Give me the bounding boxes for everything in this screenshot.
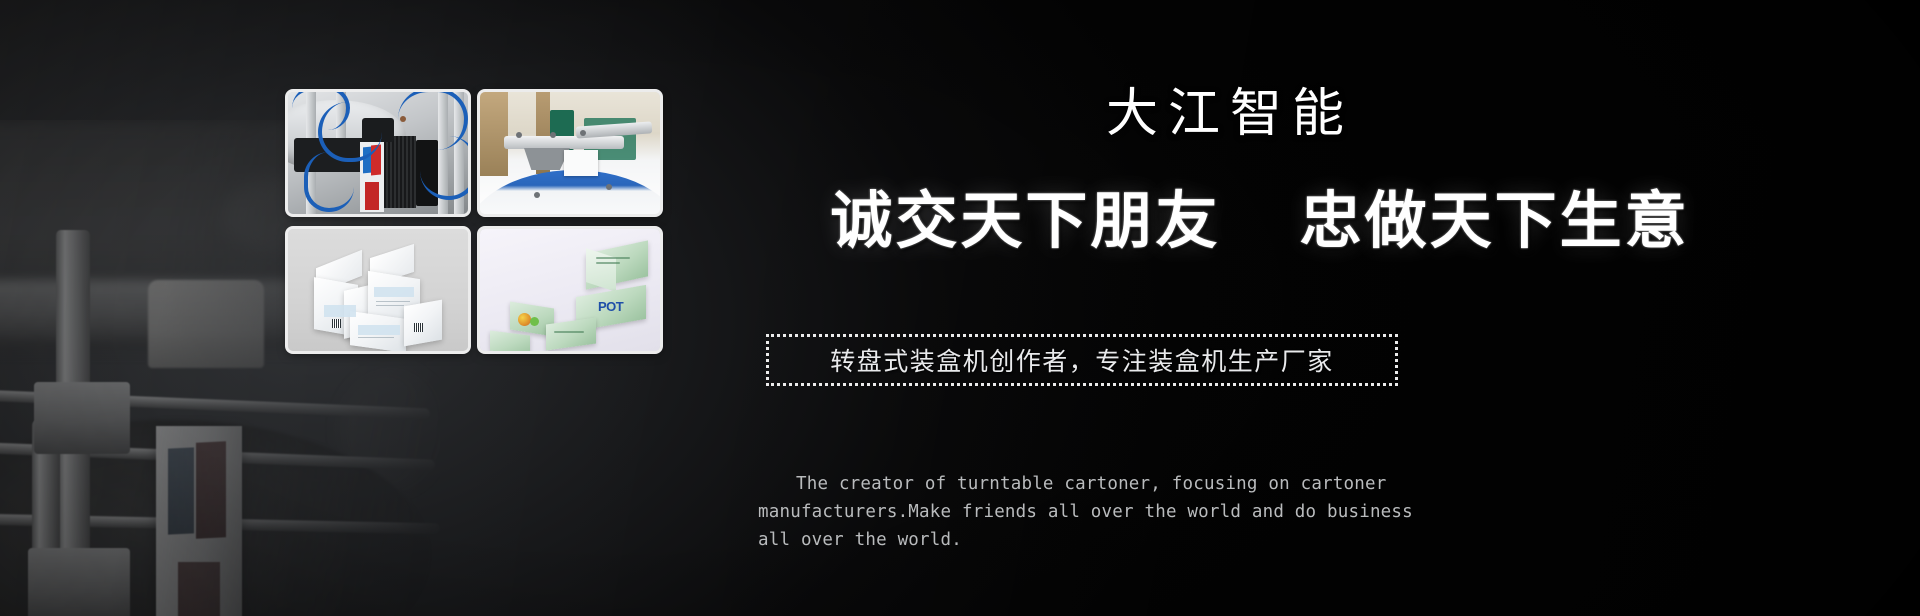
- headline-part-left: 诚交天下朋友: [830, 184, 1220, 257]
- photo-thumbnail-4[interactable]: POT: [480, 229, 660, 351]
- subtitle-dotted-box: 转盘式装盒机创作者，专注装盒机生产厂家: [766, 334, 1398, 386]
- photo-thumbnail-1[interactable]: [288, 92, 468, 214]
- photo-thumbnail-2[interactable]: [480, 92, 660, 214]
- subtitle-text: 转盘式装盒机创作者，专注装盒机生产厂家: [830, 342, 1334, 378]
- promo-banner: POT 大江智能 诚交天下朋友 忠做天下生意 转盘式装盒机创作者，专注装盒机生产…: [0, 0, 1920, 616]
- headline: 诚交天下朋友 忠做天下生意: [700, 188, 1820, 253]
- photo-grid: POT: [288, 92, 663, 351]
- english-description: The creator of turntable cartoner, focus…: [758, 470, 1418, 554]
- brand-title: 大江智能: [700, 88, 1760, 140]
- text-content: 大江智能 诚交天下朋友 忠做天下生意 转盘式装盒机创作者，专注装盒机生产厂家 T…: [700, 0, 1920, 616]
- photo-thumbnail-3[interactable]: [288, 229, 468, 351]
- headline-part-right: 忠做天下生意: [1300, 184, 1690, 257]
